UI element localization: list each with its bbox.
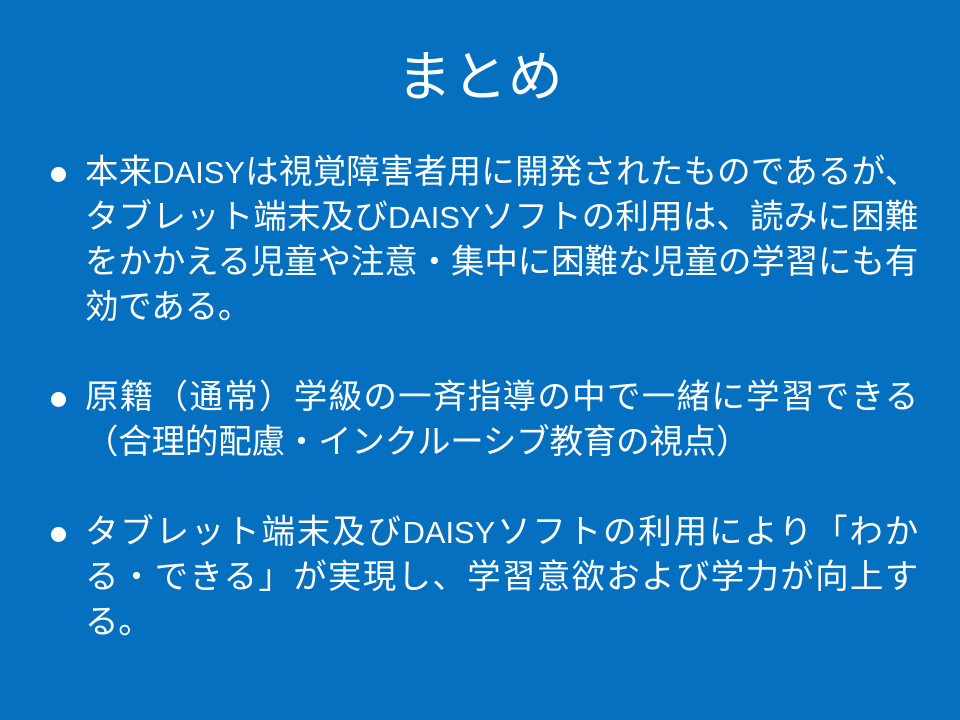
presentation-slide: まとめ 本来DAISYは視覚障害者用に開発されたものであるが、タブレット端末及び… bbox=[0, 0, 960, 720]
bullet-item-3: タブレット端末及びDAISYソフトの利用により「わかる・できる」が実現し、学習意… bbox=[42, 510, 918, 645]
slide-body: 本来DAISYは視覚障害者用に開発されたものであるが、タブレット端末及びDAIS… bbox=[42, 150, 918, 645]
bullet-marker-icon bbox=[42, 150, 85, 182]
filled-circle-icon bbox=[51, 167, 66, 182]
bullet-text-2: 原籍（通常）学級の一斉指導の中で一緒に学習できる（合理的配慮・インクルーシブ教育… bbox=[85, 375, 918, 465]
filled-circle-icon bbox=[51, 527, 66, 542]
page-title: まとめ bbox=[0, 44, 960, 110]
bullet-gap-2 bbox=[42, 465, 918, 510]
latin-run: DAISY bbox=[152, 155, 244, 190]
latin-run: DAISY bbox=[388, 200, 480, 235]
bullet-marker-icon bbox=[42, 510, 85, 542]
bullet-item-1: 本来DAISYは視覚障害者用に開発されたものであるが、タブレット端末及びDAIS… bbox=[42, 150, 918, 330]
bullet-text-1: 本来DAISYは視覚障害者用に開発されたものであるが、タブレット端末及びDAIS… bbox=[85, 150, 918, 330]
latin-run: DAISY bbox=[403, 515, 495, 550]
bullet-marker-icon bbox=[42, 375, 85, 407]
bullet-gap-1 bbox=[42, 330, 918, 375]
filled-circle-icon bbox=[51, 392, 66, 407]
bullet-item-2: 原籍（通常）学級の一斉指導の中で一緒に学習できる（合理的配慮・インクルーシブ教育… bbox=[42, 375, 918, 465]
bullet-text-3: タブレット端末及びDAISYソフトの利用により「わかる・できる」が実現し、学習意… bbox=[85, 510, 918, 645]
